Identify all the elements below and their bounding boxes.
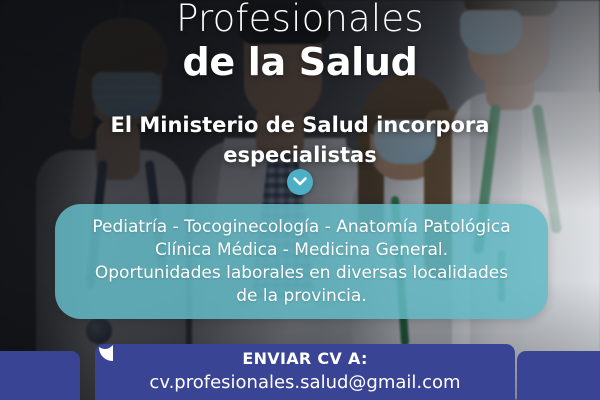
specialties-card: Pediatría - Tocoginecología - Anatomía P…: [55, 204, 548, 319]
title-line-1: Profesionales: [0, 0, 600, 40]
cta-content: ENVIAR CV A: cv.profesionales.salud@gmai…: [95, 348, 515, 395]
specialties-text: Pediatría - Tocoginecología - Anatomía P…: [55, 216, 548, 308]
footer-block-right: [517, 351, 600, 400]
poster-subtitle: El Ministerio de Salud incorpora especia…: [50, 110, 550, 170]
specialties-line: Pediatría - Tocoginecología - Anatomía P…: [55, 216, 548, 239]
footer-block-left: [0, 351, 80, 400]
title-line-2: de la Salud: [0, 40, 600, 84]
health-professionals-poster: Profesionales de la Salud El Ministerio …: [0, 0, 600, 400]
cta-email[interactable]: cv.profesionales.salud@gmail.com: [95, 370, 515, 395]
specialties-line: de la provincia.: [55, 285, 548, 308]
poster-title: Profesionales de la Salud: [0, 0, 600, 84]
specialties-line: Clínica Médica - Medicina General.: [55, 239, 548, 262]
specialties-line: Oportunidades laborales en diversas loca…: [55, 262, 548, 285]
cta-label: ENVIAR CV A:: [95, 348, 515, 370]
chevron-down-icon: [287, 169, 313, 195]
